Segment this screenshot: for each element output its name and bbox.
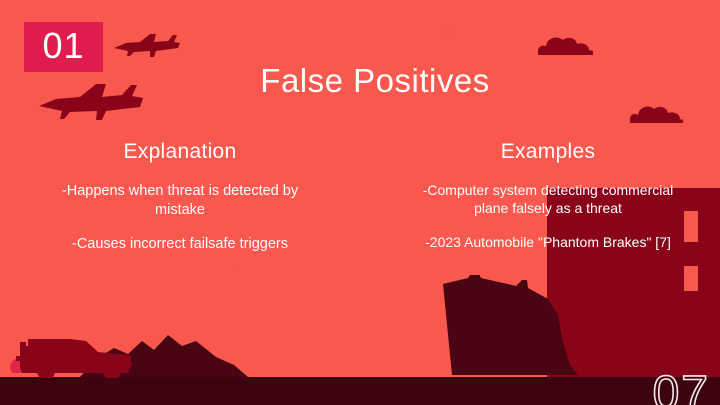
cloud-icon <box>628 103 686 125</box>
bullet-item: -2023 Automobile "Phantom Brakes" [7] <box>406 234 690 252</box>
bullet-item: -Computer system detecting commercial pl… <box>406 182 690 218</box>
presentation-slide: 01 False Positives Explanation -Happens … <box>0 0 720 405</box>
ground-strip <box>0 377 720 405</box>
column-heading: Explanation <box>40 140 320 164</box>
column-examples: Examples -Computer system detecting comm… <box>360 140 720 270</box>
page-number: 07 <box>653 370 710 405</box>
bullet-item: -Happens when threat is detected by mist… <box>40 182 320 219</box>
page-title: False Positives <box>0 62 720 100</box>
column-heading: Examples <box>406 140 690 164</box>
collapsed-building-icon <box>443 275 578 375</box>
cloud-icon <box>535 33 597 57</box>
fighter-jet-icon <box>110 30 182 64</box>
bullet-item: -Causes incorrect failsafe triggers <box>40 235 320 254</box>
jeep-icon <box>8 328 132 378</box>
content-columns: Explanation -Happens when threat is dete… <box>0 140 720 270</box>
column-explanation: Explanation -Happens when threat is dete… <box>0 140 360 270</box>
slide-number-badge-label: 01 <box>42 28 84 64</box>
